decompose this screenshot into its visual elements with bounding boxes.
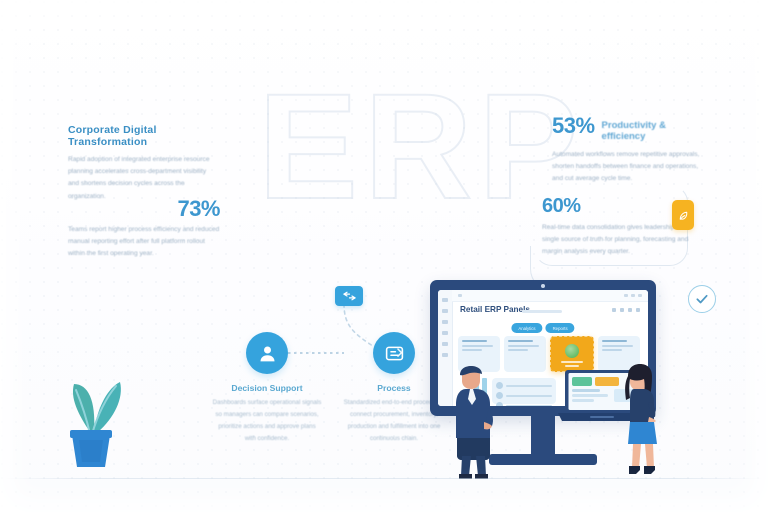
illustration-canvas: ERP Corporate Digital Transformation Rap… [0, 0, 768, 512]
sidebar-icon-3[interactable] [442, 320, 448, 324]
user-profile-icon [246, 332, 288, 374]
node-decision-support-label: Decision Support [212, 383, 322, 393]
monitor-base [489, 454, 597, 465]
dashboard-title-rule [522, 310, 562, 313]
sidebar-icon-2[interactable] [442, 309, 448, 313]
right-stat-top-block: 53% Productivity & efficiency Automated … [552, 115, 700, 186]
right-stat-bottom-value: 60% [542, 196, 581, 216]
right-stat-bottom-body: Real-time data consolidation gives leade… [542, 222, 692, 259]
card-highlight[interactable] [550, 336, 594, 372]
pill-reports[interactable]: Reports [546, 323, 575, 333]
list-card[interactable] [492, 378, 556, 404]
sidebar-icon-5[interactable] [442, 342, 448, 346]
monitor-camera-dot [541, 284, 545, 288]
node-decision-support[interactable]: Decision Support Dashboards surface oper… [212, 332, 322, 445]
topbar-dot-2 [624, 294, 628, 297]
left-stat-body: Teams report higher process efficiency a… [68, 224, 220, 261]
sidebar-icon-1[interactable] [442, 298, 448, 302]
bell-icon[interactable] [628, 308, 632, 312]
right-stat-bottom-row: 60% [542, 196, 692, 216]
sidebar-icon-6[interactable] [442, 353, 448, 357]
businesswoman-figure [612, 362, 664, 482]
list-item [496, 392, 552, 399]
left-stat-block: 73% Teams report higher process efficien… [68, 198, 220, 261]
dashboard-title: Retail ERP Panels [460, 305, 530, 314]
right-stat-top-row: 53% Productivity & efficiency [552, 115, 700, 142]
gear-icon[interactable] [612, 308, 616, 312]
list-item [496, 402, 552, 406]
topbar-dot-3 [631, 294, 635, 297]
dashboard-pill-group[interactable]: Analytics Reports [511, 323, 574, 333]
left-stat-value: 73% [177, 198, 220, 220]
businessman-figure [440, 364, 494, 480]
topbar-dot-1 [458, 294, 462, 297]
potted-plant-icon [48, 336, 132, 476]
topbar-dot-4 [638, 294, 642, 297]
ground-line [0, 478, 768, 479]
card-inventory[interactable] [504, 336, 546, 372]
left-heading-block: Corporate Digital Transformation Rapid a… [68, 124, 210, 203]
sidebar-icon-4[interactable] [442, 331, 448, 335]
document-sync-icon [373, 332, 415, 374]
right-stat-top-value: 53% [552, 115, 595, 137]
green-leaf-icon [565, 344, 579, 358]
grid-icon[interactable] [620, 308, 624, 312]
leaf-badge-icon[interactable] [672, 200, 694, 230]
dashboard-topbar [452, 290, 648, 302]
data-transfer-icon[interactable] [335, 286, 363, 306]
list-item [496, 382, 552, 389]
dashboard-toolbar[interactable] [612, 308, 640, 312]
right-stat-bottom-block: 60% Real-time data consolidation gives l… [542, 196, 692, 259]
right-stat-top-body: Automated workflows remove repetitive ap… [552, 149, 700, 186]
left-heading-title: Corporate Digital Transformation [68, 124, 210, 148]
menu-icon[interactable] [636, 308, 640, 312]
check-circle-icon[interactable] [688, 285, 716, 313]
pill-analytics[interactable]: Analytics [511, 323, 542, 333]
right-stat-top-tag: Productivity & efficiency [602, 120, 700, 142]
node-decision-support-desc: Dashboards surface operational signals s… [212, 397, 322, 445]
